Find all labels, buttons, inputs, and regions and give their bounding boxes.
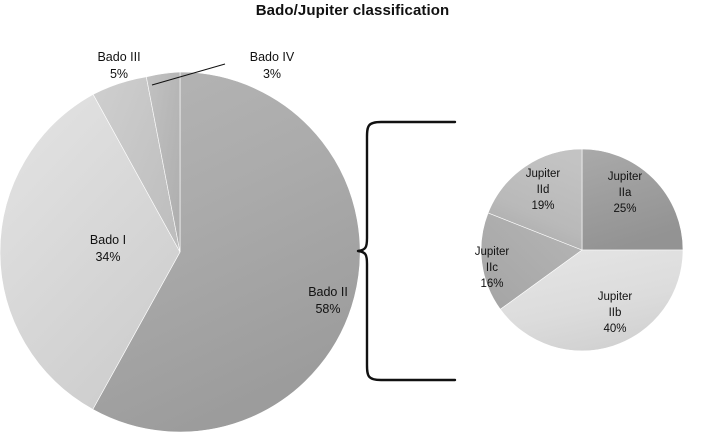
pie-callout-bado4-name: Bado IV [250, 50, 295, 64]
pie-callout-bado3-value: 5% [110, 67, 128, 81]
pie-label-jupiter2d-line1: Jupiter [526, 168, 561, 180]
bado-pie-group: Bado I 34% Bado II 58% Bado III 5% Bado … [0, 50, 360, 432]
brace-connector [358, 122, 455, 380]
pie-slice-jupiter2a[interactable] [582, 149, 683, 250]
pie-label-jupiter2a-line2: IIa [619, 187, 632, 199]
pie-label-jupiter2c-line2: IIc [486, 262, 498, 274]
pie-label-jupiter2d-value: 19% [531, 200, 554, 212]
pie-callout-bado3-name: Bado III [97, 50, 140, 64]
pie-label-jupiter2c-value: 16% [480, 278, 503, 290]
pie-label-jupiter2a-value: 25% [613, 203, 636, 215]
pie-label-bado2-value: 58% [315, 302, 340, 316]
pie-callout-bado4-value: 3% [263, 67, 281, 81]
chart-title: Bado/Jupiter classification [0, 2, 705, 19]
pie-label-jupiter2b-line1: Jupiter [598, 291, 633, 303]
brace-path [358, 122, 455, 380]
pie-label-bado2-name: Bado II [308, 285, 348, 299]
pie-label-jupiter2a-line1: Jupiter [608, 171, 643, 183]
pie-chart-svg: Bado I 34% Bado II 58% Bado III 5% Bado … [0, 0, 705, 434]
pie-label-bado1-value: 34% [95, 250, 120, 264]
pie-callout-bado3: Bado III 5% [97, 50, 140, 81]
pie-label-jupiter2d-line2: IId [537, 184, 550, 196]
pie-label-bado1-name: Bado I [90, 233, 126, 247]
pie-label-jupiter2c-line1: Jupiter [475, 246, 510, 258]
jupiter-pie-group: Jupiter IIa 25% Jupiter IIb 40% Jupiter … [475, 149, 683, 351]
pie-label-jupiter2b-line2: IIb [609, 307, 622, 319]
figure-container: Bado/Jupiter classification [0, 0, 705, 434]
pie-label-jupiter2b-value: 40% [603, 323, 626, 335]
